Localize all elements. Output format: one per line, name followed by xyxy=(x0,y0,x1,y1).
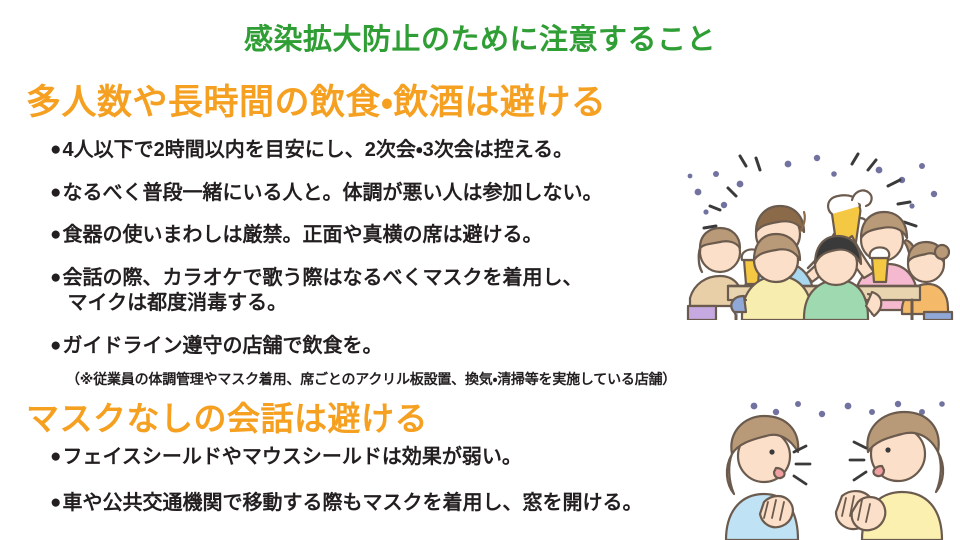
unmasked-conversation-illustration xyxy=(702,398,960,540)
infographic-poster: 感染拡大防止のために注意すること 多人数や長時間の飲食・飲酒は避ける ● 4人以… xyxy=(0,0,960,540)
bullet-dot-icon: ● xyxy=(50,181,61,206)
list-item-text-line1: 会話の際、カラオケで歌う際はなるべくマスクを着用し、 xyxy=(62,267,582,289)
bullet-dot-icon: ● xyxy=(50,223,61,248)
list-item-text: 車や公共交通機関で移動する際もマスクを着用し、窓を開ける。 xyxy=(62,491,710,517)
section-heading-conversation: マスクなしの会話は避ける xyxy=(26,392,428,440)
list-item: ● フェイスシールドやマウスシールドは効果が弱い。 xyxy=(50,445,710,471)
bullet-dot-icon: ● xyxy=(50,445,61,470)
list-item-text: ガイドライン遵守の店舗で飲食を。 xyxy=(62,334,690,360)
list-item: ● 食器の使いまわしは厳禁。正面や真横の席は避ける。 xyxy=(50,223,690,249)
list-item: ● 4人以下で2時間以内を目安にし、2次会・3次会は控える。 xyxy=(50,138,690,164)
bullet-dot-icon: ● xyxy=(50,138,61,163)
page-title: 感染拡大防止のために注意すること xyxy=(0,16,960,58)
list-item-text: 会話の際、カラオケで歌う際はなるべくマスクを着用し、 マイクは都度消毒する。 xyxy=(62,266,690,317)
bullet-dot-icon: ● xyxy=(50,266,61,291)
person-right-talking xyxy=(836,412,943,540)
list-item-text: 食器の使いまわしは厳禁。正面や真横の席は避ける。 xyxy=(62,223,690,249)
person-left-talking xyxy=(726,416,810,540)
list-item: ● ガイドライン遵守の店舗で飲食を。 xyxy=(50,334,690,360)
bullet-dot-icon: ● xyxy=(50,334,61,359)
list-item: ● 車や公共交通機関で移動する際もマスクを着用し、窓を開ける。 xyxy=(50,491,710,517)
section-heading-dining: 多人数や長時間の飲食・飲酒は避ける xyxy=(26,74,606,125)
list-item-text-line2: マイクは都度消毒する。 xyxy=(62,291,690,317)
footnote-dining: （※従業員の体調管理やマスク着用、席ごとのアクリル板設置、換気・清掃等を実施して… xyxy=(50,369,690,389)
list-item-text: フェイスシールドやマウスシールドは効果が弱い。 xyxy=(62,445,710,471)
list-item-text: 4人以下で2時間以内を目安にし、2次会・3次会は控える。 xyxy=(62,138,690,164)
bullet-list-dining: ● 4人以下で2時間以内を目安にし、2次会・3次会は控える。 ● なるべく普段一… xyxy=(50,138,690,389)
bullet-list-conversation: ● フェイスシールドやマウスシールドは効果が弱い。 ● 車や公共交通機関で移動す… xyxy=(50,445,710,536)
list-item: ● 会話の際、カラオケで歌う際はなるべくマスクを着用し、 マイクは都度消毒する。 xyxy=(50,266,690,317)
drinking-party-illustration xyxy=(676,148,960,320)
list-item-text: なるべく普段一緒にいる人と。体調が悪い人は参加しない。 xyxy=(62,181,690,207)
list-item: ● なるべく普段一緒にいる人と。体調が悪い人は参加しない。 xyxy=(50,181,690,207)
bullet-dot-icon: ● xyxy=(50,491,61,516)
